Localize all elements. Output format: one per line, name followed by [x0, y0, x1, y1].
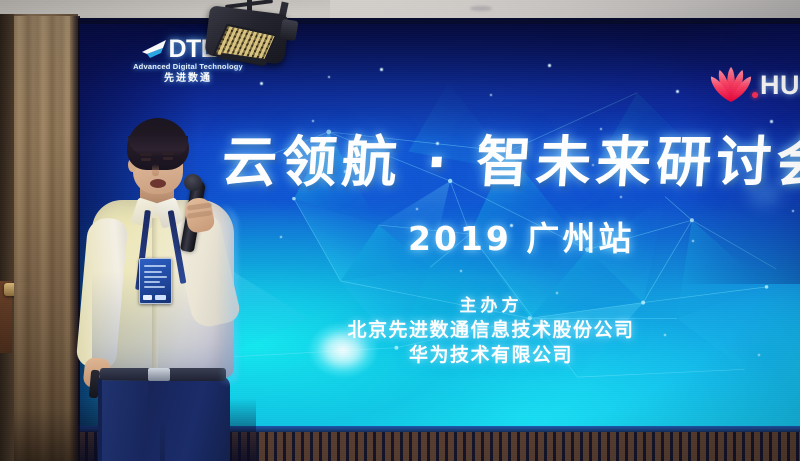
dtec-arrow-icon — [141, 39, 167, 59]
left-wall-dark-panel — [0, 14, 14, 461]
huawei-wordmark: HUA — [760, 70, 800, 100]
presenter-eyebrow-right — [162, 152, 174, 155]
presenter-hair-fringe — [128, 136, 188, 156]
conference-photo: DTEC Advanced Digital Technology 先进数通 — [0, 0, 800, 461]
badge-logo-chip-2 — [155, 295, 166, 300]
presenter-rim-light — [218, 204, 238, 384]
badge-logo-chip — [143, 295, 152, 300]
event-title: 云领航 · 智未来研讨会 — [220, 131, 794, 193]
spotlight-adjust-knob — [280, 19, 299, 41]
organizer-block: 主办方 北京先进数通信息技术股份公司 华为技术有限公司 — [316, 295, 666, 368]
presenter-eyebrow-left — [140, 153, 152, 156]
curtain-edge-shadow — [70, 16, 80, 461]
stage-spotlight — [197, 0, 315, 70]
organizer-label: 主办方 — [316, 295, 666, 318]
presenter-eye-right — [163, 157, 173, 160]
presenter-nose — [152, 164, 159, 176]
presenter-belt-buckle — [148, 368, 170, 381]
presenter-leg-separation — [160, 418, 165, 461]
name-badge — [139, 258, 172, 304]
presenter-mouth — [150, 179, 166, 188]
huawei-logo: HUA — [709, 64, 800, 106]
organizer-company-1: 北京先进数通信息技术股份公司 — [316, 318, 666, 343]
ceiling-vent-small-icon — [470, 6, 492, 11]
event-subtitle: 2019 广州站 — [408, 219, 634, 259]
presenter-eye-left — [141, 158, 151, 161]
curtain-shading — [14, 16, 78, 461]
presenter-trousers-highlight — [102, 380, 148, 461]
dtec-chinese-name: 先进数通 — [123, 73, 253, 85]
huawei-flower-icon — [709, 66, 753, 104]
organizer-company-2: 华为技术有限公司 — [316, 343, 666, 368]
